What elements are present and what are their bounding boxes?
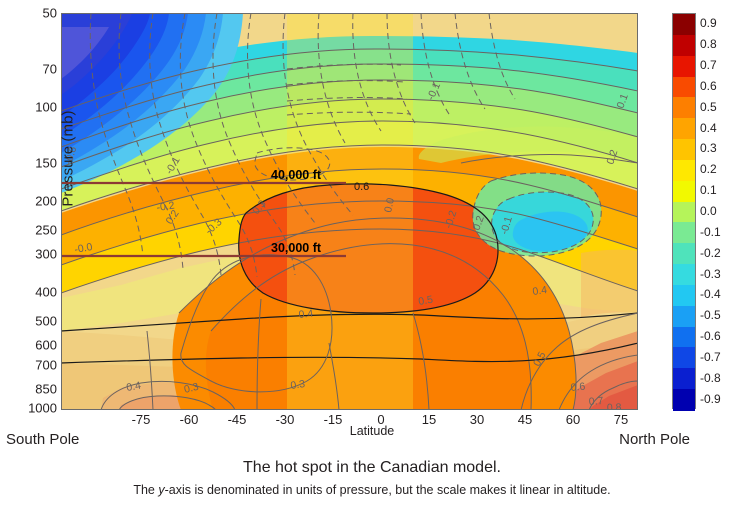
- altitude-label-40000: 40,000 ft: [271, 168, 321, 182]
- svg-text:0.8: 0.8: [607, 401, 622, 410]
- altitude-label-30000: 30,000 ft: [271, 241, 321, 255]
- ytick-300: 300: [35, 247, 57, 262]
- y-axis-label: Pressure (mb): [60, 89, 77, 229]
- ytick-600: 600: [35, 338, 57, 353]
- colorbar-tick-label: 0.8: [700, 37, 717, 51]
- figure-root: -0.6 -0.2 -0.0 -0.3 -0.1 -0.1 0.0 0.1 0.…: [0, 0, 744, 516]
- colorbar-tick-label: 0.3: [700, 141, 717, 155]
- colorbar-segment: [673, 77, 695, 98]
- figure-title: The hot spot in the Canadian model.: [0, 459, 744, 477]
- colorbar-segment: [673, 14, 695, 35]
- ytick-500: 500: [35, 314, 57, 329]
- colorbar-tick-label: -0.7: [700, 350, 721, 364]
- colorbar-segment: [673, 222, 695, 243]
- svg-text:0.7: 0.7: [588, 395, 604, 408]
- svg-text:0.4: 0.4: [532, 284, 548, 298]
- colorbar-tick-label: 0.5: [700, 100, 717, 114]
- colorbar-segment: [673, 97, 695, 118]
- colorbar-segment: [673, 347, 695, 368]
- colorbar-segment: [673, 368, 695, 389]
- colorbar-tick-label: -0.8: [700, 371, 721, 385]
- svg-text:0.6: 0.6: [570, 381, 586, 394]
- y-axis: 50 70 100 150 200 250 300 400 500 600 70…: [0, 0, 57, 420]
- subtitle-pre: The: [133, 483, 158, 497]
- colorbar-segment: [673, 285, 695, 306]
- colorbar-tick-label: -0.2: [700, 246, 721, 260]
- colorbar-segment: [673, 243, 695, 264]
- colorbar-tick-label: -0.1: [700, 225, 721, 239]
- colorbar-tick-label: 0.1: [700, 183, 717, 197]
- colorbar-segment: [673, 264, 695, 285]
- colorbar-tick-label: -0.4: [700, 287, 721, 301]
- colorbar-tick-label: -0.9: [700, 392, 721, 406]
- svg-text:0.4: 0.4: [298, 308, 314, 321]
- colorbar-segment: [673, 327, 695, 348]
- colorbar-tick-label: 0.6: [700, 79, 717, 93]
- colorbar-tick-label: 0.7: [700, 58, 717, 72]
- colorbar-tick-label: -0.3: [700, 267, 721, 281]
- ytick-200: 200: [35, 194, 57, 209]
- ytick-700: 700: [35, 358, 57, 373]
- south-pole-label: South Pole: [6, 431, 79, 448]
- colorbar-tick-label: 0.4: [700, 121, 717, 135]
- colorbar-segment: [673, 389, 695, 410]
- colorbar-segment: [673, 202, 695, 223]
- colorbar-gradient: [672, 13, 696, 409]
- svg-text:0.3: 0.3: [290, 378, 306, 392]
- ytick-50: 50: [43, 6, 57, 21]
- north-pole-label: North Pole: [619, 431, 690, 448]
- ytick-850: 850: [35, 382, 57, 397]
- ytick-150: 150: [35, 156, 57, 171]
- ytick-250: 250: [35, 223, 57, 238]
- colorbar-segment: [673, 306, 695, 327]
- colorbar-tick-label: -0.6: [700, 329, 721, 343]
- svg-text:0.4: 0.4: [125, 380, 142, 394]
- colorbar-tick-label: -0.5: [700, 308, 721, 322]
- colorbar-segment: [673, 181, 695, 202]
- ytick-70: 70: [43, 62, 57, 77]
- colorbar-tick-label: 0.2: [700, 162, 717, 176]
- colorbar-tick-label: 0.0: [700, 204, 717, 218]
- colorbar-tick-label: 0.9: [700, 16, 717, 30]
- ytick-100: 100: [35, 100, 57, 115]
- colorbar-segment: [673, 118, 695, 139]
- subtitle-post: -axis is denominated in units of pressur…: [165, 483, 611, 497]
- colorbar-segment: [673, 139, 695, 160]
- colorbar-segment: [673, 35, 695, 56]
- ytick-400: 400: [35, 285, 57, 300]
- contour-plot: -0.6 -0.2 -0.0 -0.3 -0.1 -0.1 0.0 0.1 0.…: [61, 13, 638, 410]
- svg-text:0.5: 0.5: [417, 294, 434, 308]
- figure-subtitle: The y-axis is denominated in units of pr…: [0, 483, 744, 497]
- colorbar: 0.90.80.70.60.50.40.30.20.10.0-0.1-0.2-0…: [672, 13, 696, 409]
- colorbar-segment: [673, 160, 695, 181]
- colorbar-segment: [673, 56, 695, 77]
